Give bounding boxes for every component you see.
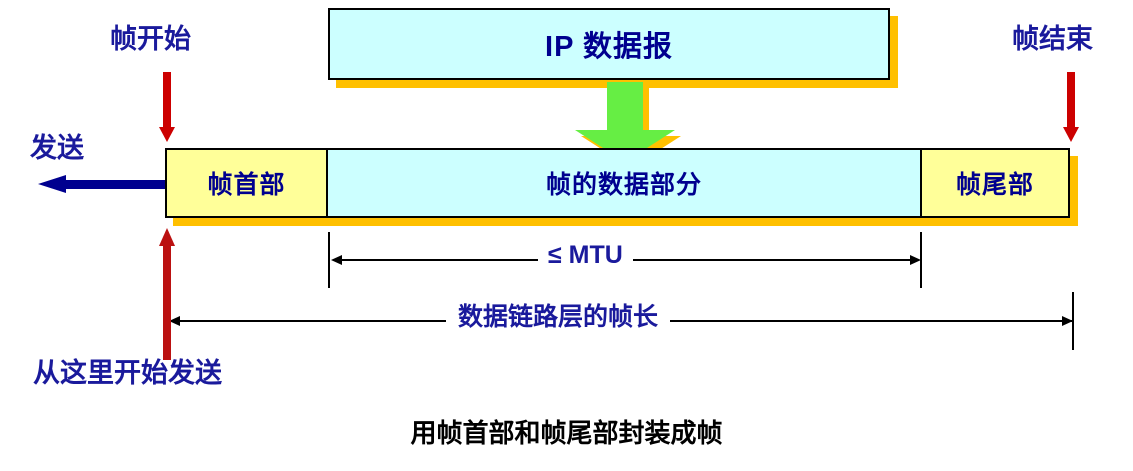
mtu-label: ≤ MTU	[538, 243, 633, 268]
frame-bar: 帧首部 帧的数据部分 帧尾部	[165, 148, 1070, 218]
frame-start-label: 帧开始	[110, 26, 191, 53]
frame-trailer-label: 帧尾部	[956, 165, 1034, 201]
frame-start-red-down-arrow-icon	[159, 72, 175, 142]
mtu-left-tick	[328, 232, 330, 288]
ip-datagram-box: IP 数据报	[328, 8, 890, 80]
ip-datagram-label: IP 数据报	[330, 10, 888, 78]
frame-end-label: 帧结束	[1012, 26, 1093, 53]
frame-length-right-arrowhead	[1062, 316, 1073, 326]
start-here-label: 从这里开始发送	[33, 360, 222, 387]
mtu-left-arrowhead	[331, 255, 342, 265]
frame-trailer-segment: 帧尾部	[920, 148, 1070, 218]
frame-header-label: 帧首部	[207, 165, 285, 201]
send-label: 发送	[30, 135, 84, 162]
frame-end-red-down-arrow-icon	[1063, 72, 1079, 142]
red-up-arrow-icon	[159, 228, 175, 360]
frame-data-segment: 帧的数据部分	[328, 148, 920, 218]
frame-length-label: 数据链路层的帧长	[446, 305, 670, 330]
diagram-canvas: IP 数据报 帧开始 帧结束 发送 帧首部 帧的数据部分 帧尾部	[0, 0, 1133, 471]
frame-header-segment: 帧首部	[165, 148, 328, 218]
frame-data-label: 帧的数据部分	[546, 165, 702, 201]
blue-left-arrow-icon	[38, 175, 166, 193]
mtu-right-arrowhead	[910, 255, 921, 265]
caption: 用帧首部和帧尾部封装成帧	[0, 420, 1133, 446]
